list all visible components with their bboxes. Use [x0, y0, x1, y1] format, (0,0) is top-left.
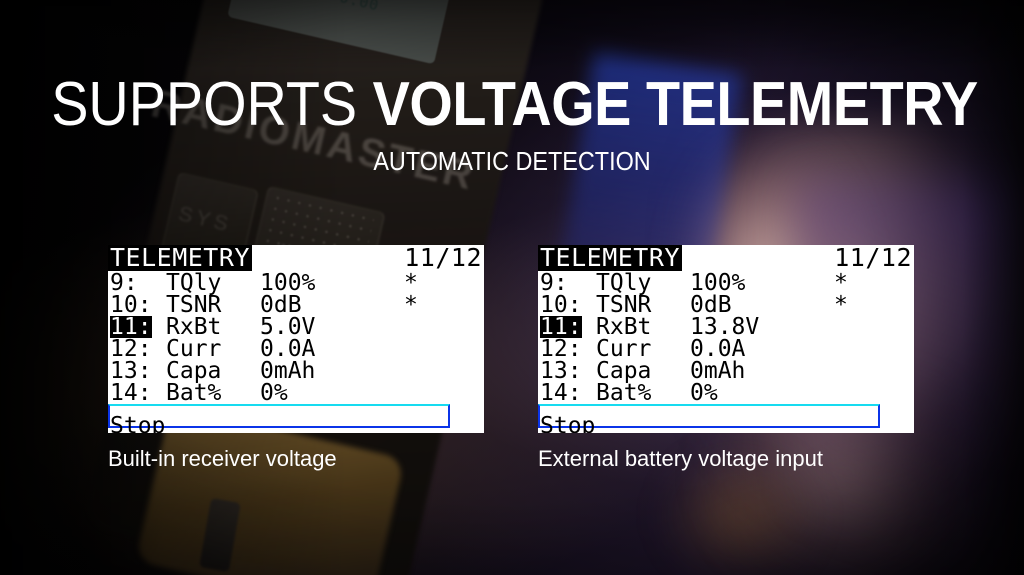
row-sensor-value: 0dB [260, 294, 302, 316]
table-row[interactable]: 9: TQly 100% * [538, 272, 914, 294]
row-sensor-name: Curr [596, 338, 651, 360]
lcd-header-right: TELEMETRY 11/12 [538, 245, 914, 271]
row-index: 11: [540, 316, 582, 338]
row-star-marker: * [834, 294, 848, 316]
row-sensor-name: Capa [166, 360, 221, 382]
row-sensor-value: 0% [690, 382, 718, 404]
headline-light-text: SUPPORTS [51, 70, 372, 139]
row-index: 10: [540, 294, 582, 316]
row-sensor-name: Bat% [596, 382, 651, 404]
row-sensor-name: Capa [596, 360, 651, 382]
row-sensor-name: TSNR [596, 294, 651, 316]
row-sensor-value: 0.0A [690, 338, 745, 360]
lcd-page-indicator-left: 11/12 [404, 245, 482, 271]
row-star-marker: * [834, 272, 848, 294]
row-sensor-value: 100% [690, 272, 745, 294]
telemetry-screen-left: TELEMETRY 11/12 9: TQly 100% * 10: TSNR … [108, 245, 484, 433]
row-sensor-name: RxBt [166, 316, 221, 338]
lcd-page-indicator-right: 11/12 [834, 245, 912, 271]
row-index: 10: [110, 294, 152, 316]
top-fade-overlay [0, 0, 1024, 70]
caption-left: Built-in receiver voltage [108, 446, 337, 472]
row-sensor-value: 13.8V [690, 316, 759, 338]
page-title: SUPPORTS VOLTAGE TELEMETRY [51, 73, 973, 137]
row-sensor-name: TSNR [166, 294, 221, 316]
table-row[interactable]: 12: Curr 0.0A [108, 338, 484, 360]
row-sensor-value: 0% [260, 382, 288, 404]
row-sensor-value: 0.0A [260, 338, 315, 360]
table-row[interactable]: 12: Curr 0.0A [538, 338, 914, 360]
lcd-header-left: TELEMETRY 11/12 [108, 245, 484, 271]
telemetry-screen-right: TELEMETRY 11/12 9: TQly 100% * 10: TSNR … [538, 245, 914, 433]
row-index: 12: [110, 338, 152, 360]
table-row-selected[interactable]: 11: RxBt 13.8V [538, 316, 914, 338]
lcd-stop-button-right[interactable]: Stop [540, 415, 595, 433]
row-sensor-value: 0dB [690, 294, 732, 316]
row-sensor-value: 100% [260, 272, 315, 294]
lcd-title-left: TELEMETRY [108, 245, 252, 271]
lcd-stop-button-left[interactable]: Stop [110, 415, 165, 433]
row-index: 12: [540, 338, 582, 360]
row-index: 14: [540, 382, 582, 404]
row-index: 9: [540, 272, 568, 294]
telemetry-row-list-left: 9: TQly 100% * 10: TSNR 0dB * 11: RxBt 5… [108, 272, 484, 404]
page-subtitle: AUTOMATIC DETECTION [51, 146, 973, 176]
row-star-marker: * [404, 272, 418, 294]
table-row-selected[interactable]: 11: RxBt 5.0V [108, 316, 484, 338]
row-sensor-value: 0mAh [260, 360, 315, 382]
lcd-title-right: TELEMETRY [538, 245, 682, 271]
row-sensor-name: TQly [596, 272, 651, 294]
row-sensor-name: RxBt [596, 316, 651, 338]
row-index: 9: [110, 272, 138, 294]
telemetry-row-list-right: 9: TQly 100% * 10: TSNR 0dB * 11: RxBt 1… [538, 272, 914, 404]
table-row[interactable]: 14: Bat% 0% [538, 382, 914, 404]
row-index: 14: [110, 382, 152, 404]
row-star-marker: * [404, 294, 418, 316]
row-index: 13: [110, 360, 152, 382]
row-sensor-value: 0mAh [690, 360, 745, 382]
table-row[interactable]: 14: Bat% 0% [108, 382, 484, 404]
row-sensor-name: Bat% [166, 382, 221, 404]
row-index: 11: [110, 316, 152, 338]
row-sensor-name: Curr [166, 338, 221, 360]
caption-right: External battery voltage input [538, 446, 823, 472]
row-sensor-name: TQly [166, 272, 221, 294]
headline-bold-text: VOLTAGE TELEMETRY [373, 70, 978, 139]
table-row[interactable]: 13: Capa 0mAh [108, 360, 484, 382]
table-row[interactable]: 10: TSNR 0dB * [108, 294, 484, 316]
promo-banner: 10: TSNR 100% 11:RxBt 0dB 12: Curr 13.8V… [0, 0, 1024, 575]
table-row[interactable]: 13: Capa 0mAh [538, 360, 914, 382]
row-sensor-value: 5.0V [260, 316, 315, 338]
table-row[interactable]: 10: TSNR 0dB * [538, 294, 914, 316]
row-index: 13: [540, 360, 582, 382]
table-row[interactable]: 9: TQly 100% * [108, 272, 484, 294]
